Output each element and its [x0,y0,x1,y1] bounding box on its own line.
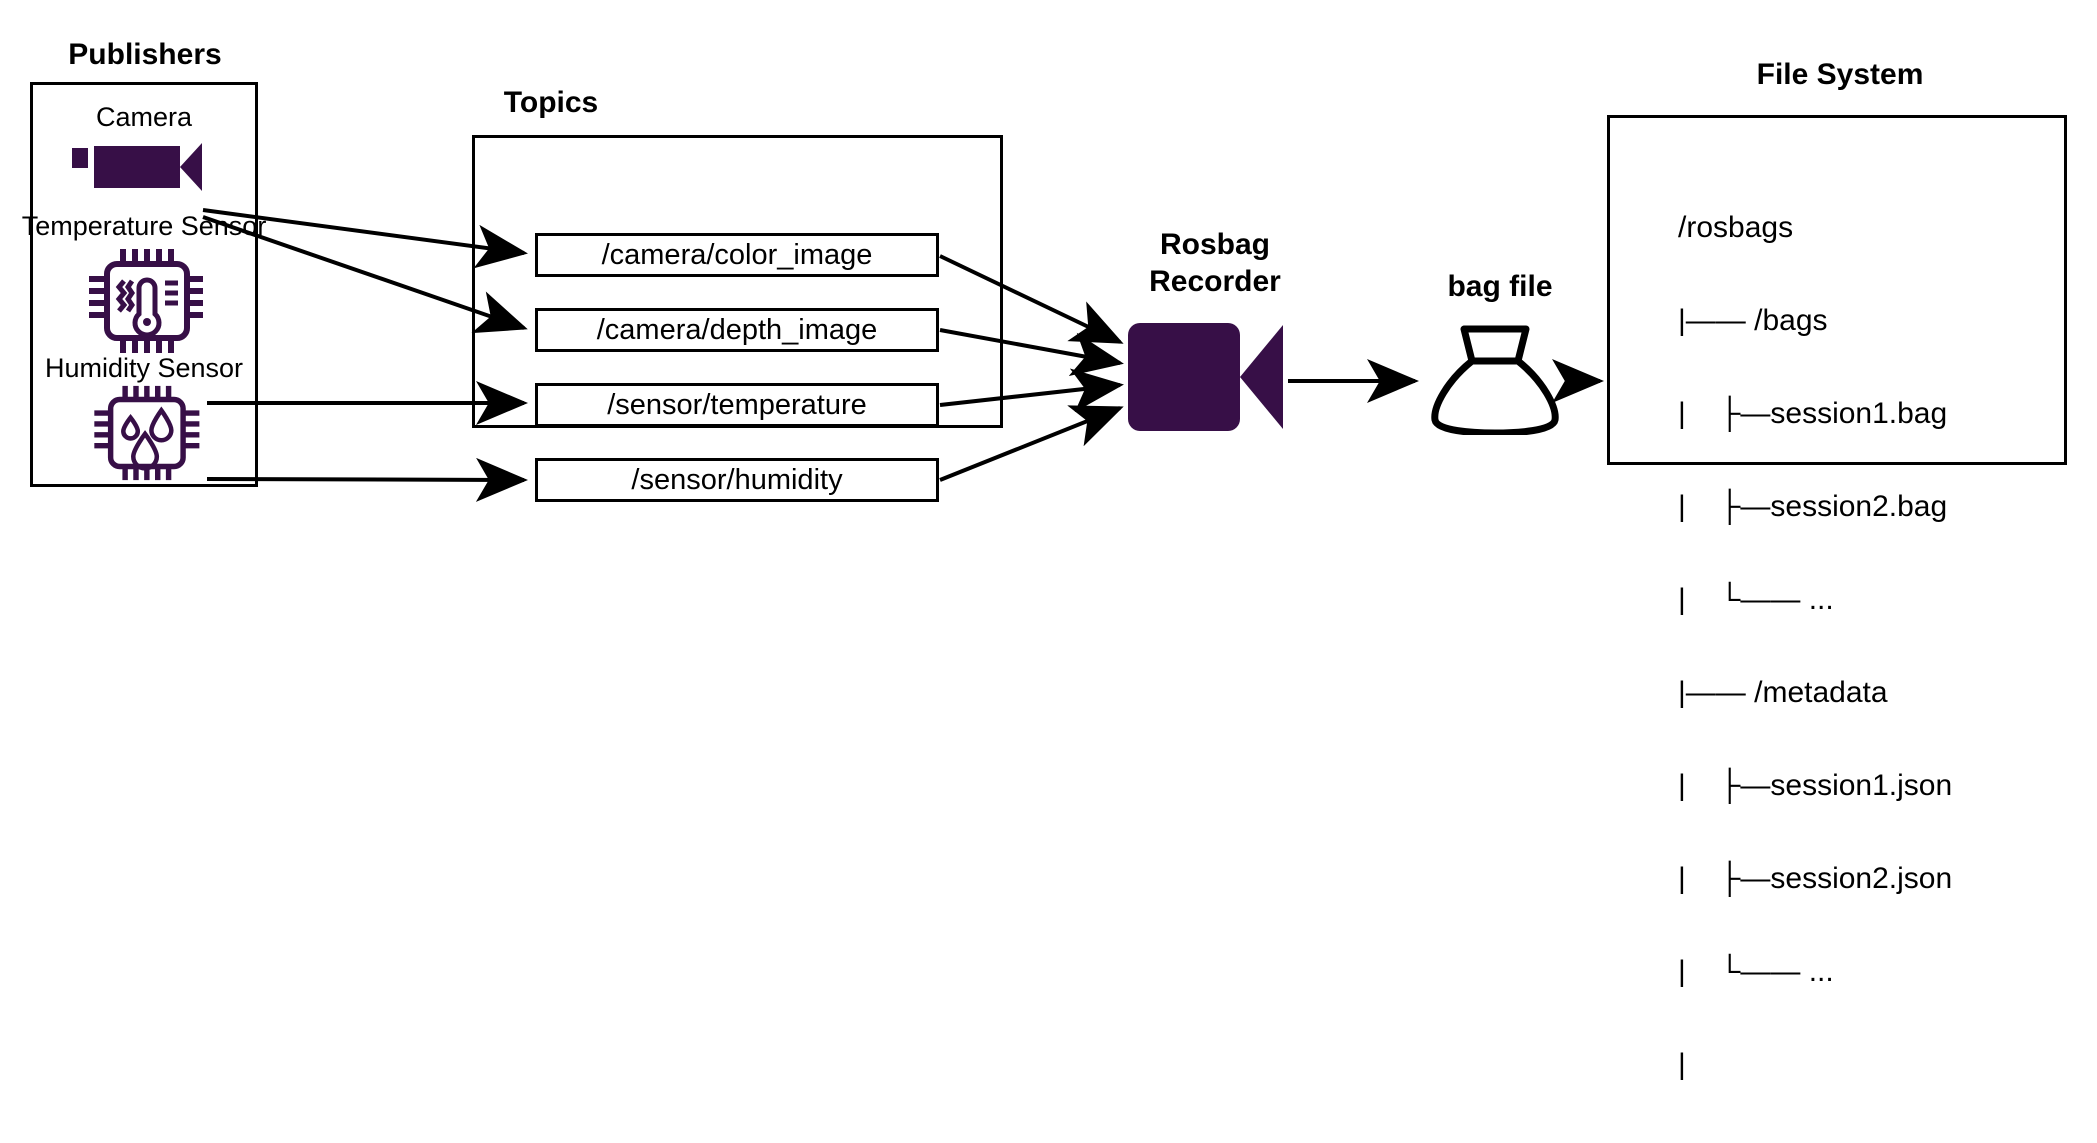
topic-label: /sensor/humidity [631,464,842,497]
tree-row: | ├—session1.bag [1678,398,2058,429]
tree-row: | └—— ... [1678,584,2058,615]
camera-icon [72,140,202,195]
tree-row: | ├—session2.json [1678,863,2058,894]
topic-box-camera-depth-image[interactable]: /camera/depth_image [535,308,939,352]
topic-box-sensor-temperature[interactable]: /sensor/temperature [535,383,939,427]
tree-row: |—— /metadata [1678,677,2058,708]
tree-row: | ├—session1.json [1678,770,2058,801]
tree-row: | └—— ... [1678,956,2058,987]
topic-label: /camera/depth_image [597,314,878,347]
tree-row: | [1678,1049,2058,1080]
tree-row: | ├—session2.bag [1678,491,2058,522]
topic-label: /sensor/temperature [607,389,867,422]
rosbag-recorder-camera-icon[interactable] [1128,323,1283,431]
bag-file-icon [1425,325,1565,435]
file-system-tree: /rosbags |—— /bags | ├—session1.bag | ├—… [1678,150,2058,1142]
file-system-heading: File System [1690,58,1990,91]
temperature-sensor-chip-icon [88,248,203,354]
topic-box-sensor-humidity[interactable]: /sensor/humidity [535,458,939,502]
tree-row: /rosbags [1678,212,2058,243]
rosbag-recorder-heading-line2: Recorder [1110,265,1320,298]
topics-heading: Topics [440,86,662,119]
humidity-sensor-chip-icon [88,385,203,481]
publishers-heading: Publishers [34,38,256,71]
diagram-canvas: Publishers Camera Temperature Sensor [0,0,2097,684]
camera-label: Camera [30,103,258,133]
temperature-sensor-label: Temperature Sensor [20,212,268,242]
topic-label: /camera/color_image [602,239,873,272]
tree-row: |—— /bags [1678,305,2058,336]
bag-file-label: bag file [1400,270,1600,303]
topic-box-camera-color-image[interactable]: /camera/color_image [535,233,939,277]
rosbag-recorder-heading-line1: Rosbag [1110,228,1320,261]
humidity-sensor-label: Humidity Sensor [26,354,262,384]
